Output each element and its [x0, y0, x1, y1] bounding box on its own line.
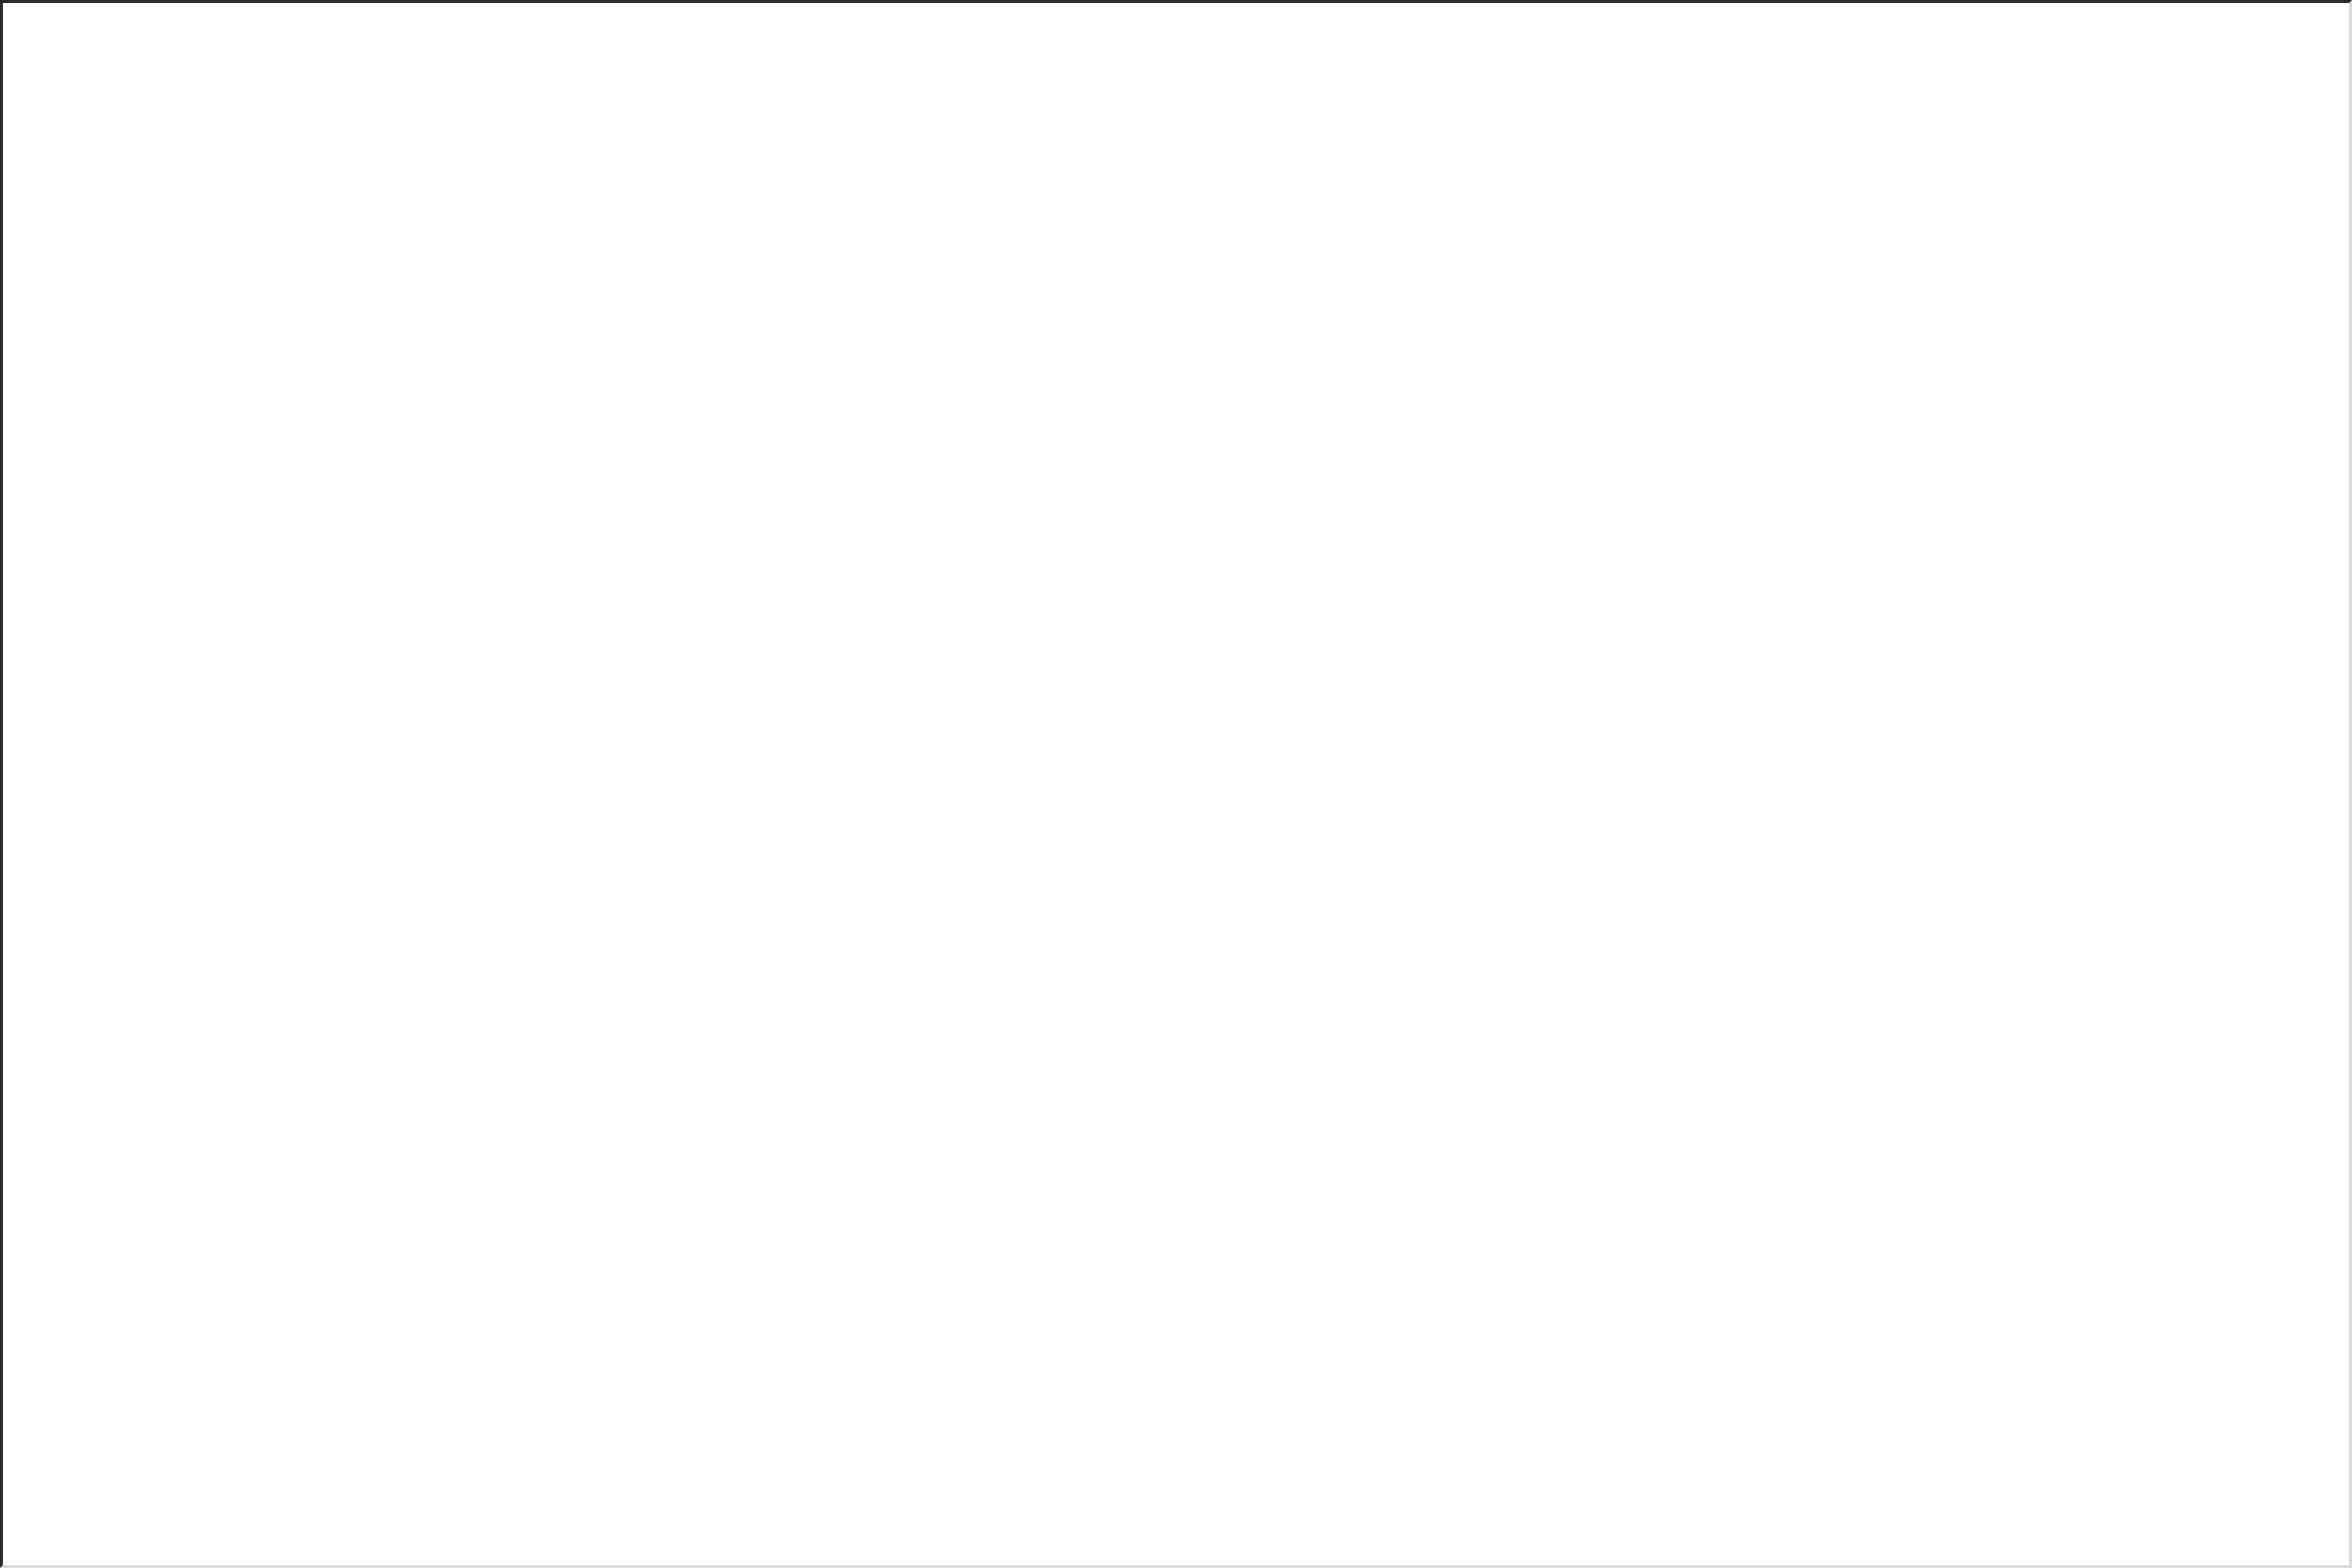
catalog-sheet — [3, 3, 2349, 1565]
